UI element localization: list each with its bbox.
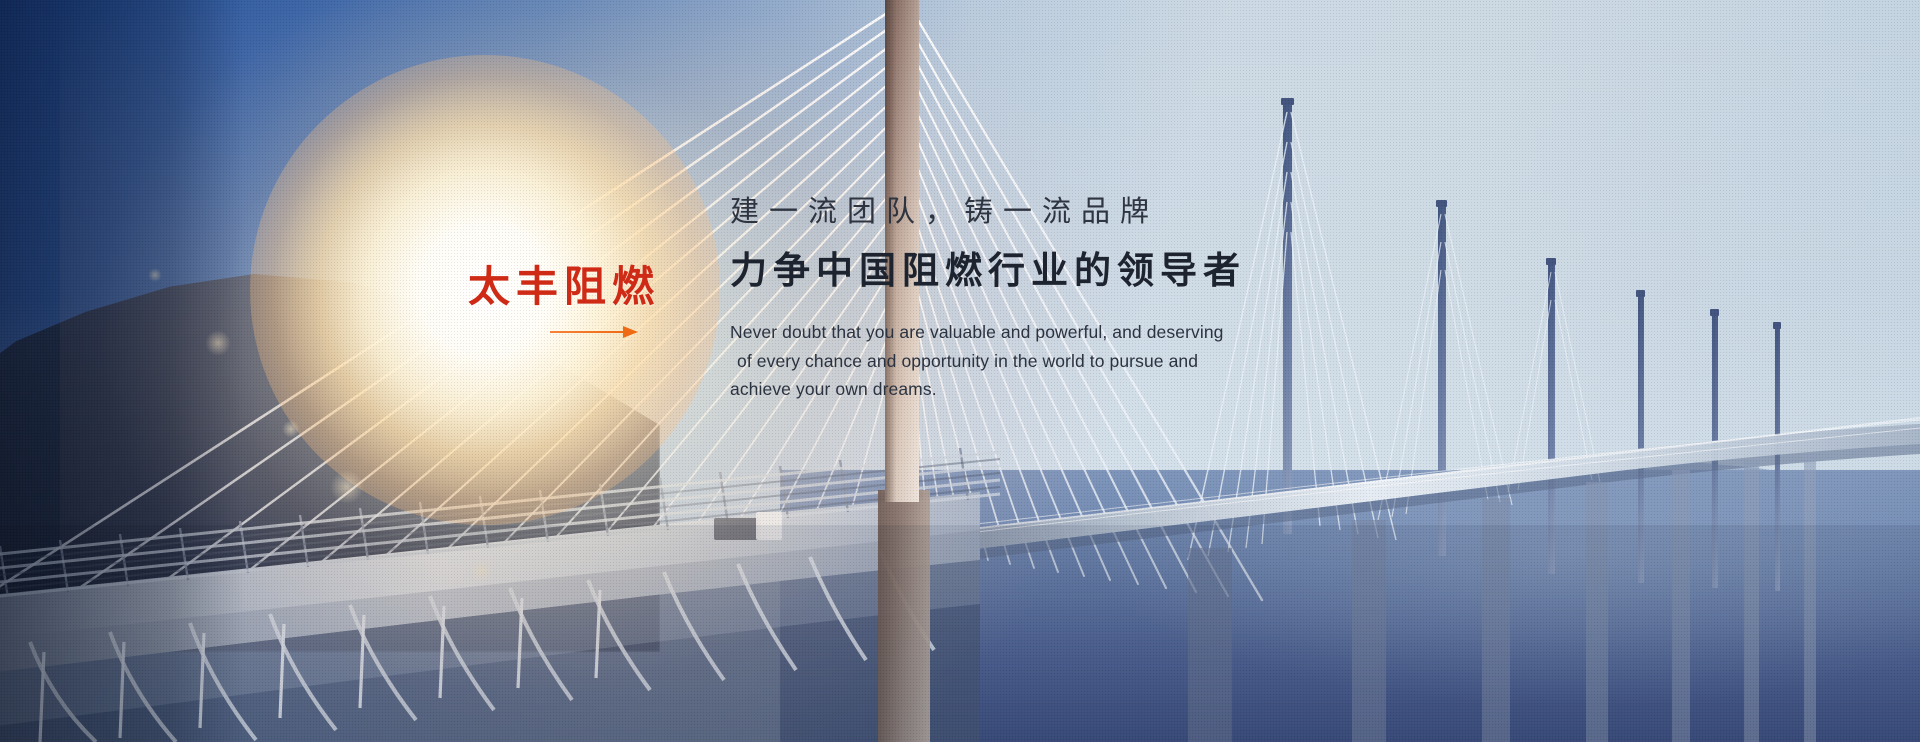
paragraph-line-1: Never doubt that you are valuable and po… [730, 318, 1490, 346]
arrow-shaft [550, 331, 624, 333]
hero-paragraph: Never doubt that you are valuable and po… [730, 318, 1490, 403]
hero-subtitle: 建一流团队，铸一流品牌 [730, 196, 1490, 228]
arrow-head [623, 326, 638, 338]
paragraph-line-3: achieve your own dreams. [730, 375, 1490, 403]
paragraph-line-2: of every chance and opportunity in the w… [730, 347, 1490, 375]
brand-logo[interactable]: 太丰阻燃 [468, 266, 708, 338]
hero-text-block: 建一流团队，铸一流品牌 力争中国阻燃行业的领导者 Never doubt tha… [730, 196, 1490, 403]
hero-banner: 太丰阻燃 建一流团队，铸一流品牌 力争中国阻燃行业的领导者 Never doub… [0, 0, 1920, 742]
arrow-right-icon [550, 326, 638, 338]
brand-logo-text: 太丰阻燃 [468, 266, 708, 308]
hero-title: 力争中国阻燃行业的领导者 [730, 250, 1490, 293]
